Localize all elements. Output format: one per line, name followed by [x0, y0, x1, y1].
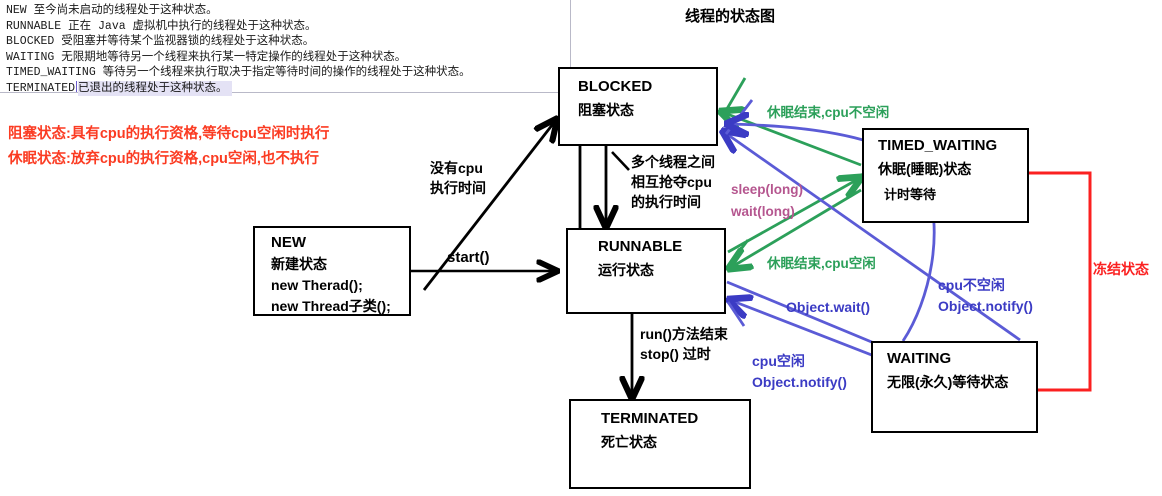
definition-text-highlighted: 已退出的线程处于这种状态。: [78, 81, 232, 97]
edge-label-line: 多个线程之间: [631, 152, 715, 172]
edge-label-line: stop() 过时: [640, 344, 728, 364]
definition-line-runnable: RUNNABLE 正在 Java 虚拟机中执行的线程处于这种状态。: [6, 19, 570, 35]
definition-line-new: NEW 至今尚未启动的线程处于这种状态。: [6, 3, 570, 19]
definition-keyword: WAITING: [6, 51, 54, 64]
edge-label-line: run()方法结束: [640, 324, 728, 344]
state-subtitle: 死亡状态: [601, 432, 749, 452]
edge-label-line: 相互抢夺cpu: [631, 172, 715, 192]
definition-keyword: TERMINATED: [6, 82, 75, 95]
definition-keyword: NEW: [6, 4, 27, 17]
state-detail-line: 计时等待: [878, 184, 1027, 203]
state-detail-line: new Thread子类();: [271, 296, 409, 316]
state-subtitle: 运行状态: [598, 260, 724, 280]
edge-label-line: cpu空闲: [752, 351, 847, 372]
note-blocked-state: 阻塞状态:具有cpu的执行资格,等待cpu空闲时执行: [8, 122, 329, 143]
definition-text: 正在 Java 虚拟机中执行的线程处于这种状态。: [68, 20, 316, 33]
state-box-timed-waiting[interactable]: TIMED_WAITING 休眠(睡眠)状态 计时等待: [862, 128, 1029, 223]
state-title: TIMED_WAITING: [878, 137, 1027, 154]
edge-label-start: start(): [447, 248, 490, 268]
definition-line-waiting: WAITING 无限期地等待另一个线程来执行某一特定操作的线程处于这种状态。: [6, 50, 570, 66]
definition-text: 等待另一个线程来执行取决于指定等待时间的操作的线程处于这种状态。: [103, 66, 471, 79]
edge-label-line: sleep(long): [731, 179, 803, 201]
edge-label-sleep-end-cpu-free: 休眠结束,cpu空闲: [767, 252, 876, 272]
edge-label-thread-contention: 多个线程之间 相互抢夺cpu 的执行时间: [631, 152, 715, 212]
edge-label-cpu-busy-notify: cpu不空闲 Object.notify(): [938, 275, 1033, 317]
edge-runnable-to-blocked-diagonal: [424, 120, 556, 290]
state-title: NEW: [271, 234, 409, 251]
state-subtitle: 休眠(睡眠)状态: [878, 159, 1027, 179]
definition-line-blocked: BLOCKED 受阻塞并等待某个监视器锁的线程处于这种状态。: [6, 34, 570, 50]
edge-label-cpu-free-notify: cpu空闲 Object.notify(): [752, 351, 847, 393]
edge-timed-waiting-to-blocked: [722, 78, 861, 165]
edge-label-line: 没有cpu: [430, 158, 486, 178]
edge-label-object-wait: Object.wait(): [786, 297, 870, 318]
edge-label-sleep-end-cpu-busy: 休眠结束,cpu不空闲: [767, 101, 889, 121]
state-title: RUNNABLE: [598, 238, 724, 255]
frozen-state-bracket: [1029, 173, 1090, 390]
edge-label-line: wait(long): [731, 201, 803, 223]
definition-text: 受阻塞并等待某个监视器锁的线程处于这种状态。: [61, 35, 314, 48]
definition-keyword: TIMED_WAITING: [6, 66, 96, 79]
definition-text: 无限期地等待另一个线程来执行某一特定操作的线程处于这种状态。: [61, 51, 406, 64]
state-detail-line: new Therad();: [271, 277, 409, 293]
edge-label-line: Object.notify(): [752, 372, 847, 393]
state-subtitle: 新建状态: [271, 254, 409, 274]
text-caret: [76, 81, 77, 92]
edge-tick-contend: [612, 152, 629, 170]
note-sleeping-state: 休眠状态:放弃cpu的执行资格,cpu空闲,也不执行: [8, 147, 319, 168]
edge-label-run-end: run()方法结束 stop() 过时: [640, 324, 728, 364]
state-title: BLOCKED: [578, 78, 716, 95]
edge-label-line: cpu不空闲: [938, 275, 1033, 296]
edge-label-line: Object.notify(): [938, 296, 1033, 317]
state-box-blocked[interactable]: BLOCKED 阻塞状态: [558, 67, 718, 146]
state-box-waiting[interactable]: WAITING 无限(永久)等待状态: [871, 341, 1038, 433]
definition-text: 至今尚未启动的线程处于这种状态。: [34, 4, 218, 17]
state-box-terminated[interactable]: TERMINATED 死亡状态: [569, 399, 751, 489]
definition-keyword: BLOCKED: [6, 35, 54, 48]
state-title: WAITING: [887, 350, 1036, 367]
diagram-canvas: NEW 至今尚未启动的线程处于这种状态。 RUNNABLE 正在 Java 虚拟…: [0, 0, 1162, 496]
state-title: TERMINATED: [601, 410, 749, 427]
state-box-runnable[interactable]: RUNNABLE 运行状态: [566, 228, 726, 314]
edge-label-line: 的执行时间: [631, 192, 715, 212]
state-box-new[interactable]: NEW 新建状态 new Therad(); new Thread子类();: [253, 226, 411, 316]
thread-state-definitions: NEW 至今尚未启动的线程处于这种状态。 RUNNABLE 正在 Java 虚拟…: [0, 0, 571, 93]
label-frozen-state: 冻结状态: [1093, 259, 1149, 279]
edge-label-no-cpu-time: 没有cpu 执行时间: [430, 158, 486, 198]
definition-keyword: RUNNABLE: [6, 20, 61, 33]
edge-label-line: 执行时间: [430, 178, 486, 198]
state-subtitle: 阻塞状态: [578, 100, 716, 120]
edge-label-sleep-wait-long: sleep(long) wait(long): [731, 179, 803, 223]
state-subtitle: 无限(永久)等待状态: [887, 372, 1036, 392]
diagram-title: 线程的状态图: [620, 5, 840, 26]
definition-line-terminated: TERMINATED已退出的线程处于这种状态。: [6, 81, 570, 97]
definition-line-timed-waiting: TIMED_WAITING 等待另一个线程来执行取决于指定等待时间的操作的线程处…: [6, 65, 570, 81]
